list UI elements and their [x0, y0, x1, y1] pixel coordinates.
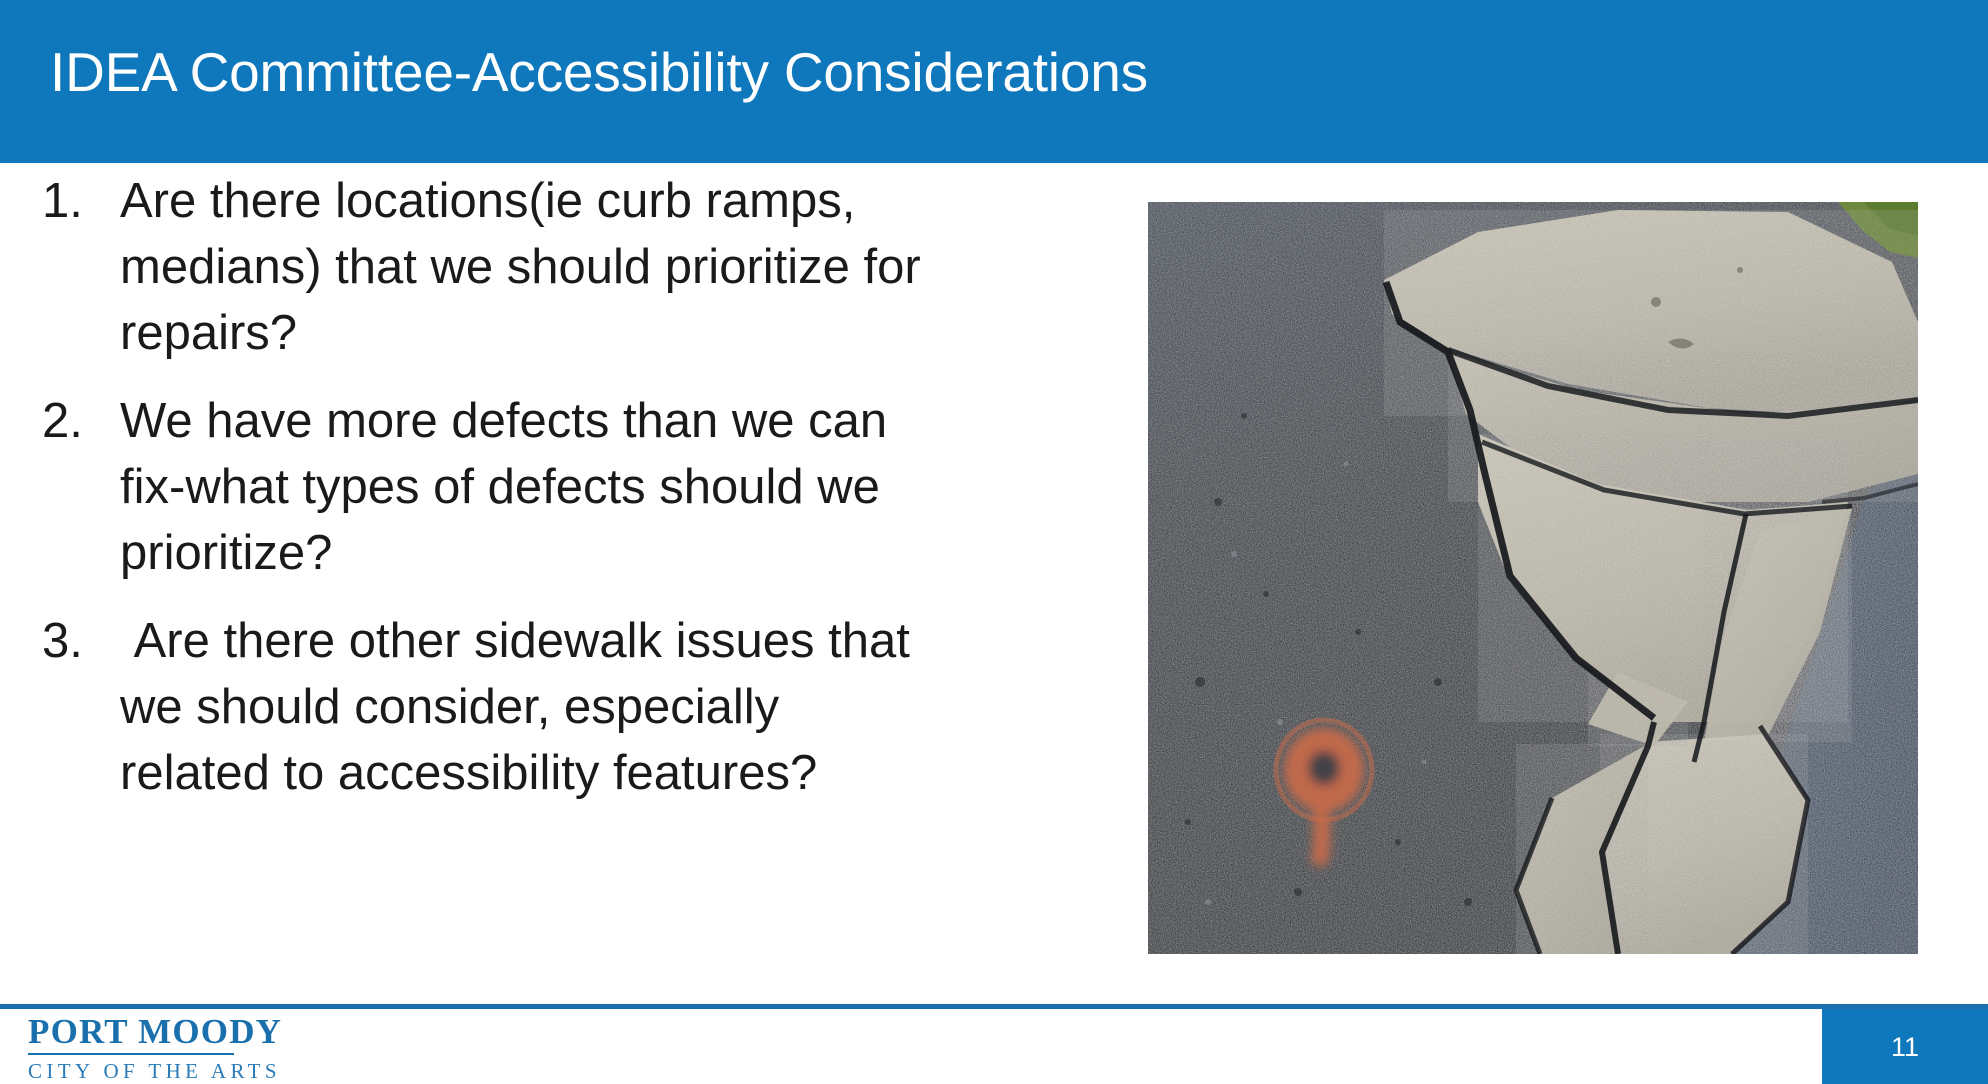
cracked-sidewalk-illustration [1148, 202, 1918, 954]
list-item-number: 1. [42, 168, 120, 234]
footer-divider [0, 1004, 1988, 1009]
logo-divider [28, 1053, 234, 1055]
page-number-badge: 11 [1822, 1009, 1988, 1084]
page-title: IDEA Committee-Accessibility Considerati… [50, 36, 1148, 108]
list-item: 1. Are there locations(ie curb ramps, me… [42, 168, 922, 366]
numbered-question-list: 1. Are there locations(ie curb ramps, me… [42, 168, 922, 806]
list-item-text: We have more defects than we can fix-wha… [120, 388, 922, 586]
page-number: 11 [1891, 1032, 1919, 1062]
list-item: 2. We have more defects than we can fix-… [42, 388, 922, 586]
list-item-text: Are there other sidewalk issues that we … [120, 608, 922, 806]
logo-primary-text: PORT MOODY [28, 1013, 268, 1051]
port-moody-logo: PORT MOODY CITY OF THE ARTS [28, 1013, 268, 1083]
list-item: 3. Are there other sidewalk issues that … [42, 608, 922, 806]
list-item-number: 3. [42, 608, 120, 674]
list-item-number: 2. [42, 388, 120, 454]
logo-secondary-text: CITY OF THE ARTS [28, 1059, 268, 1083]
slide: IDEA Committee-Accessibility Considerati… [0, 0, 1988, 1084]
cracked-sidewalk-photo [1148, 202, 1918, 954]
list-item-text: Are there locations(ie curb ramps, media… [120, 168, 922, 366]
